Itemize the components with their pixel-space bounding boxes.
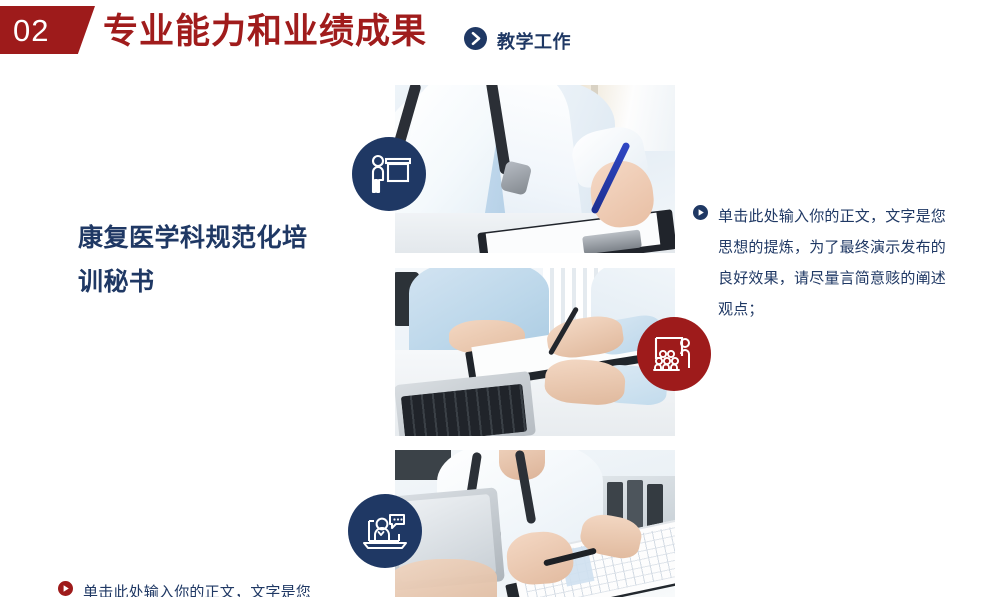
play-circle-bullet-icon	[693, 205, 708, 225]
content-row-2: 单击此处输入你的正文，文字是您思想的提炼，为了最终演示发布的良好效果，请尽量言简…	[0, 268, 985, 438]
consultation-with-laptop-photo	[395, 268, 675, 436]
online-teaching-laptop-icon	[348, 494, 422, 568]
presenter-board-icon	[352, 137, 426, 211]
section-number-label: 02	[13, 15, 49, 46]
slide-canvas: 02 专业能力和业绩成果 教学工作 康复医学科规范化培训秘书	[0, 0, 985, 597]
section-number-badge: 02	[0, 6, 95, 54]
classroom-teaching-icon	[637, 317, 711, 391]
doctor-reviewing-chart-at-laptop-photo	[395, 450, 675, 597]
chevron-right-circle-icon	[464, 27, 487, 50]
doctor-writing-on-clipboard-photo	[395, 85, 675, 253]
content-row-3: 带教规范化培训医生10余名	[0, 450, 985, 597]
content-row-1: 康复医学科规范化培训秘书	[0, 85, 985, 255]
slide-header: 02 专业能力和业绩成果 教学工作	[0, 0, 985, 75]
page-subtitle: 教学工作	[497, 28, 571, 54]
page-title: 专业能力和业绩成果	[103, 10, 427, 54]
